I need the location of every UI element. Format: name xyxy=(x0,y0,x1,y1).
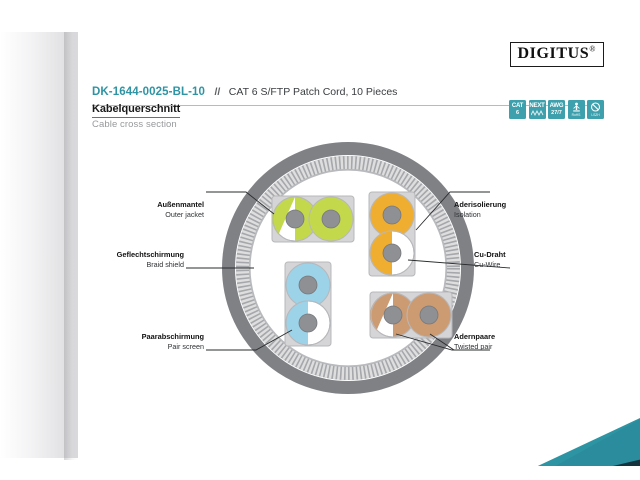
awg-badge-line2: 27/7 xyxy=(551,110,562,116)
orange-wire-striped xyxy=(370,231,414,275)
callout-cu-wire-de: Cu-Draht xyxy=(474,250,506,260)
green-solid-conductor xyxy=(322,210,340,228)
title-separator: // xyxy=(214,86,220,98)
certification-badges: CAT 6 NEXT AWG 27/7 xyxy=(509,100,604,119)
callout-braid-shield-de: Geflechtschirmung xyxy=(84,250,184,260)
orange-pair xyxy=(369,192,415,276)
callout-twisted-pair-en: Twisted pair xyxy=(454,342,495,352)
product-description: CAT 6 S/FTP Patch Cord, 10 Pieces xyxy=(229,86,398,98)
cable-cross-section-diagram xyxy=(78,138,618,438)
orange-solid-conductor xyxy=(383,206,401,224)
callout-twisted-pair: Adernpaare Twisted pair xyxy=(454,332,495,351)
lszh-badge-label: LSZH xyxy=(591,113,599,117)
callout-braid-shield-en: Braid shield xyxy=(84,260,184,270)
blue-wire-solid xyxy=(286,263,330,307)
background-top-margin xyxy=(0,0,640,32)
callout-outer-jacket-de: Außenmantel xyxy=(104,200,204,210)
blue-wire-striped xyxy=(286,301,330,345)
rohs-badge: RoHS xyxy=(568,100,585,119)
section-title-de: Kabelquerschnitt xyxy=(92,103,180,118)
green-wire-conductor xyxy=(286,210,304,228)
waveform-icon xyxy=(531,110,544,116)
cat6-badge: CAT 6 xyxy=(509,100,526,119)
callout-cu-wire: Cu-Draht Cu-Wire xyxy=(474,250,506,269)
bottom-white-strip xyxy=(480,466,640,480)
content-sheet: DIGITUS® DK-1644-0025-BL-10 // CAT 6 S/F… xyxy=(78,34,618,446)
brown-pair xyxy=(370,292,452,338)
callout-braid-shield: Geflechtschirmung Braid shield xyxy=(84,250,184,269)
callout-pair-screen-de: Paarabschirmung xyxy=(104,332,204,342)
cable-diagram-svg xyxy=(78,138,618,438)
callout-isolation-de: Aderisolierung xyxy=(454,200,506,210)
callout-isolation: Aderisolierung Isolation xyxy=(454,200,506,219)
callout-isolation-en: Isolation xyxy=(454,210,506,220)
lszh-badge: LSZH xyxy=(587,100,604,119)
logo-registered-mark: ® xyxy=(589,45,596,54)
orange-wire-solid xyxy=(370,193,414,237)
green-pair xyxy=(272,196,354,242)
callout-twisted-pair-de: Adernpaare xyxy=(454,332,495,342)
brown-solid-conductor xyxy=(420,306,438,324)
callout-pair-screen-en: Pair screen xyxy=(104,342,204,352)
next-badge: NEXT xyxy=(529,100,546,119)
logo-wordmark: DIGITUS xyxy=(518,45,590,62)
sheet-drop-shadow xyxy=(64,32,78,460)
no-halogen-icon xyxy=(590,102,601,113)
callout-pair-screen: Paarabschirmung Pair screen xyxy=(104,332,204,351)
section-title-en: Cable cross section xyxy=(92,119,177,130)
callout-outer-jacket-en: Outer jacket xyxy=(104,210,204,220)
digitus-logo: DIGITUS® xyxy=(510,42,604,67)
orange-wire-conductor xyxy=(383,244,401,262)
cat6-badge-line2: 6 xyxy=(516,110,519,116)
green-wire-solid xyxy=(309,197,353,241)
blue-pair xyxy=(285,262,331,346)
product-sku: DK-1644-0025-BL-10 xyxy=(92,86,205,98)
rohs-badge-label: RoHS xyxy=(572,113,581,117)
brown-wire-solid xyxy=(407,293,451,337)
brown-wire-conductor xyxy=(384,306,402,324)
datasheet-page: DIGITUS® DK-1644-0025-BL-10 // CAT 6 S/F… xyxy=(0,0,640,480)
callout-cu-wire-en: Cu-Wire xyxy=(474,260,506,270)
blue-solid-conductor xyxy=(299,276,317,294)
blue-wire-conductor xyxy=(299,314,317,332)
awg-badge: AWG 27/7 xyxy=(548,100,565,119)
rohs-symbol-icon xyxy=(571,102,582,113)
callout-outer-jacket: Außenmantel Outer jacket xyxy=(104,200,204,219)
